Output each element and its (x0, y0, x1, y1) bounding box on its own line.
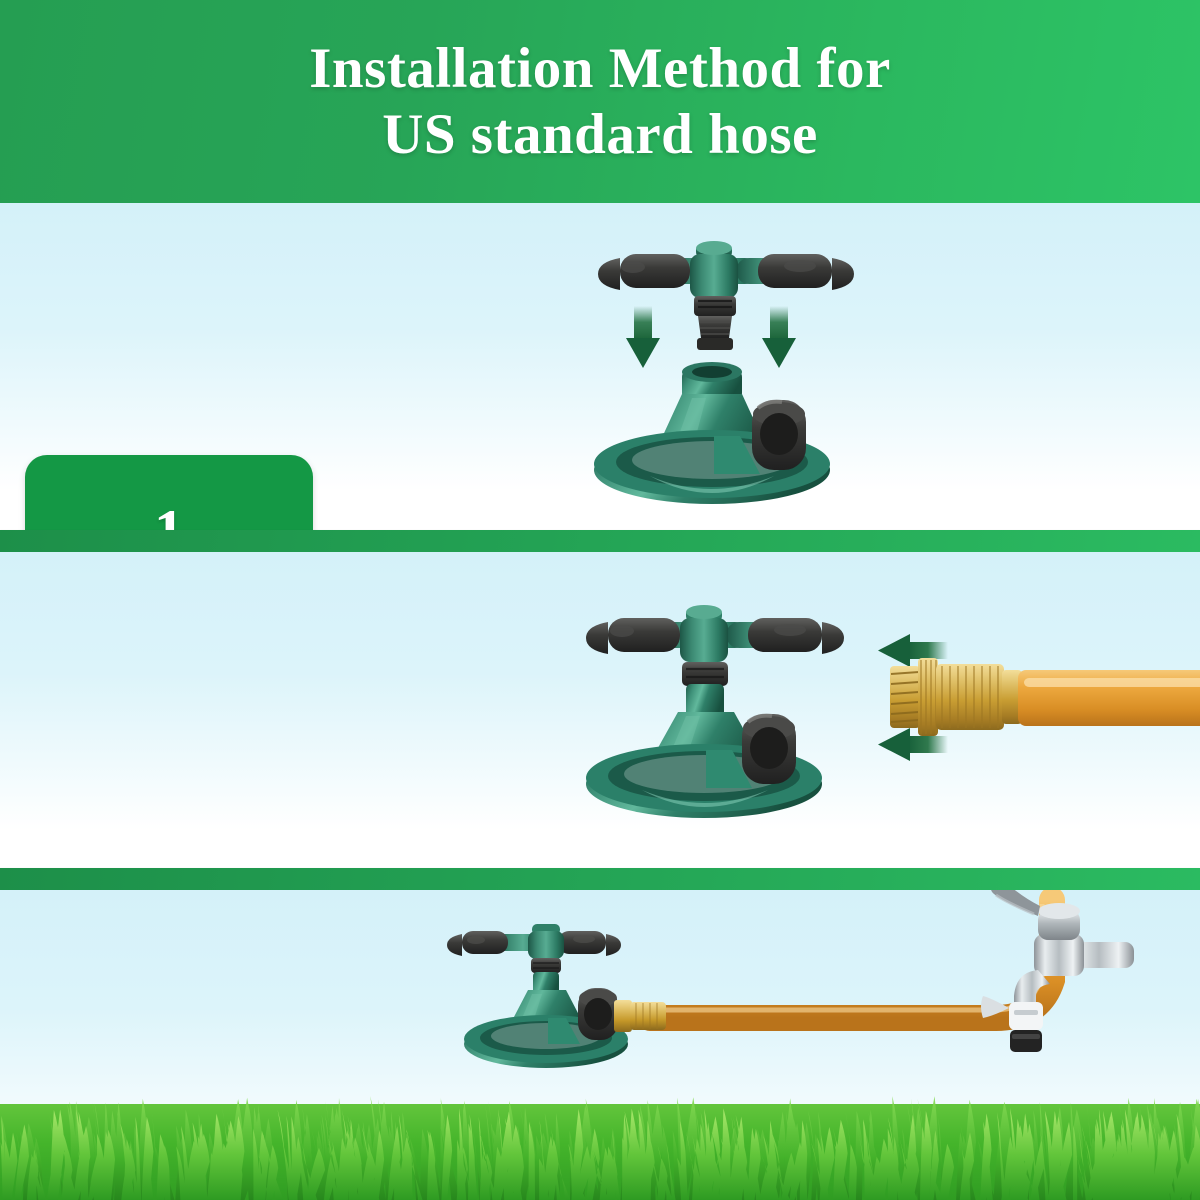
sprinkler-assembled (586, 605, 844, 818)
faucet-body (1034, 934, 1084, 976)
page-title-line-2: US standard hose (382, 102, 818, 168)
header-banner: Installation Method for US standard hose (0, 0, 1200, 203)
illustration-step-2 (490, 584, 1200, 854)
step-number-1: 1 (154, 500, 184, 531)
panel-divider-1 (0, 530, 1200, 552)
grass-foreground (0, 1068, 1200, 1200)
illustration-step-1 (500, 218, 920, 518)
hose-collar (1010, 1030, 1042, 1052)
garden-hose (1018, 670, 1200, 726)
hose-adapter (1009, 1002, 1043, 1030)
step-card-1[interactable]: 1 Turn in nozzle to the base (25, 455, 313, 530)
step-panel-3: 3 Connect the other end of the hose to t… (0, 890, 1200, 1200)
panel-divider-2 (0, 868, 1200, 890)
page-title-line-1: Installation Method for (309, 36, 891, 102)
step-panel-1: 1 Turn in nozzle to the base (0, 203, 1200, 530)
brass-hose-fitting (890, 658, 1022, 736)
side-connector-knob (578, 988, 618, 1040)
sprinkler-in-grass (447, 924, 666, 1068)
installation-guide-page: Installation Method for US standard hose (0, 0, 1200, 1200)
sprinkler-base (594, 362, 830, 504)
side-connector-knob (752, 400, 806, 470)
assembly-arrow-right (762, 306, 796, 368)
assembly-arrow-left (626, 306, 660, 368)
side-connector-knob (742, 714, 796, 784)
step-panel-2: 2 Connect the hose screw thread to sprin… (0, 552, 1200, 868)
grass-blades (0, 1068, 1200, 1200)
